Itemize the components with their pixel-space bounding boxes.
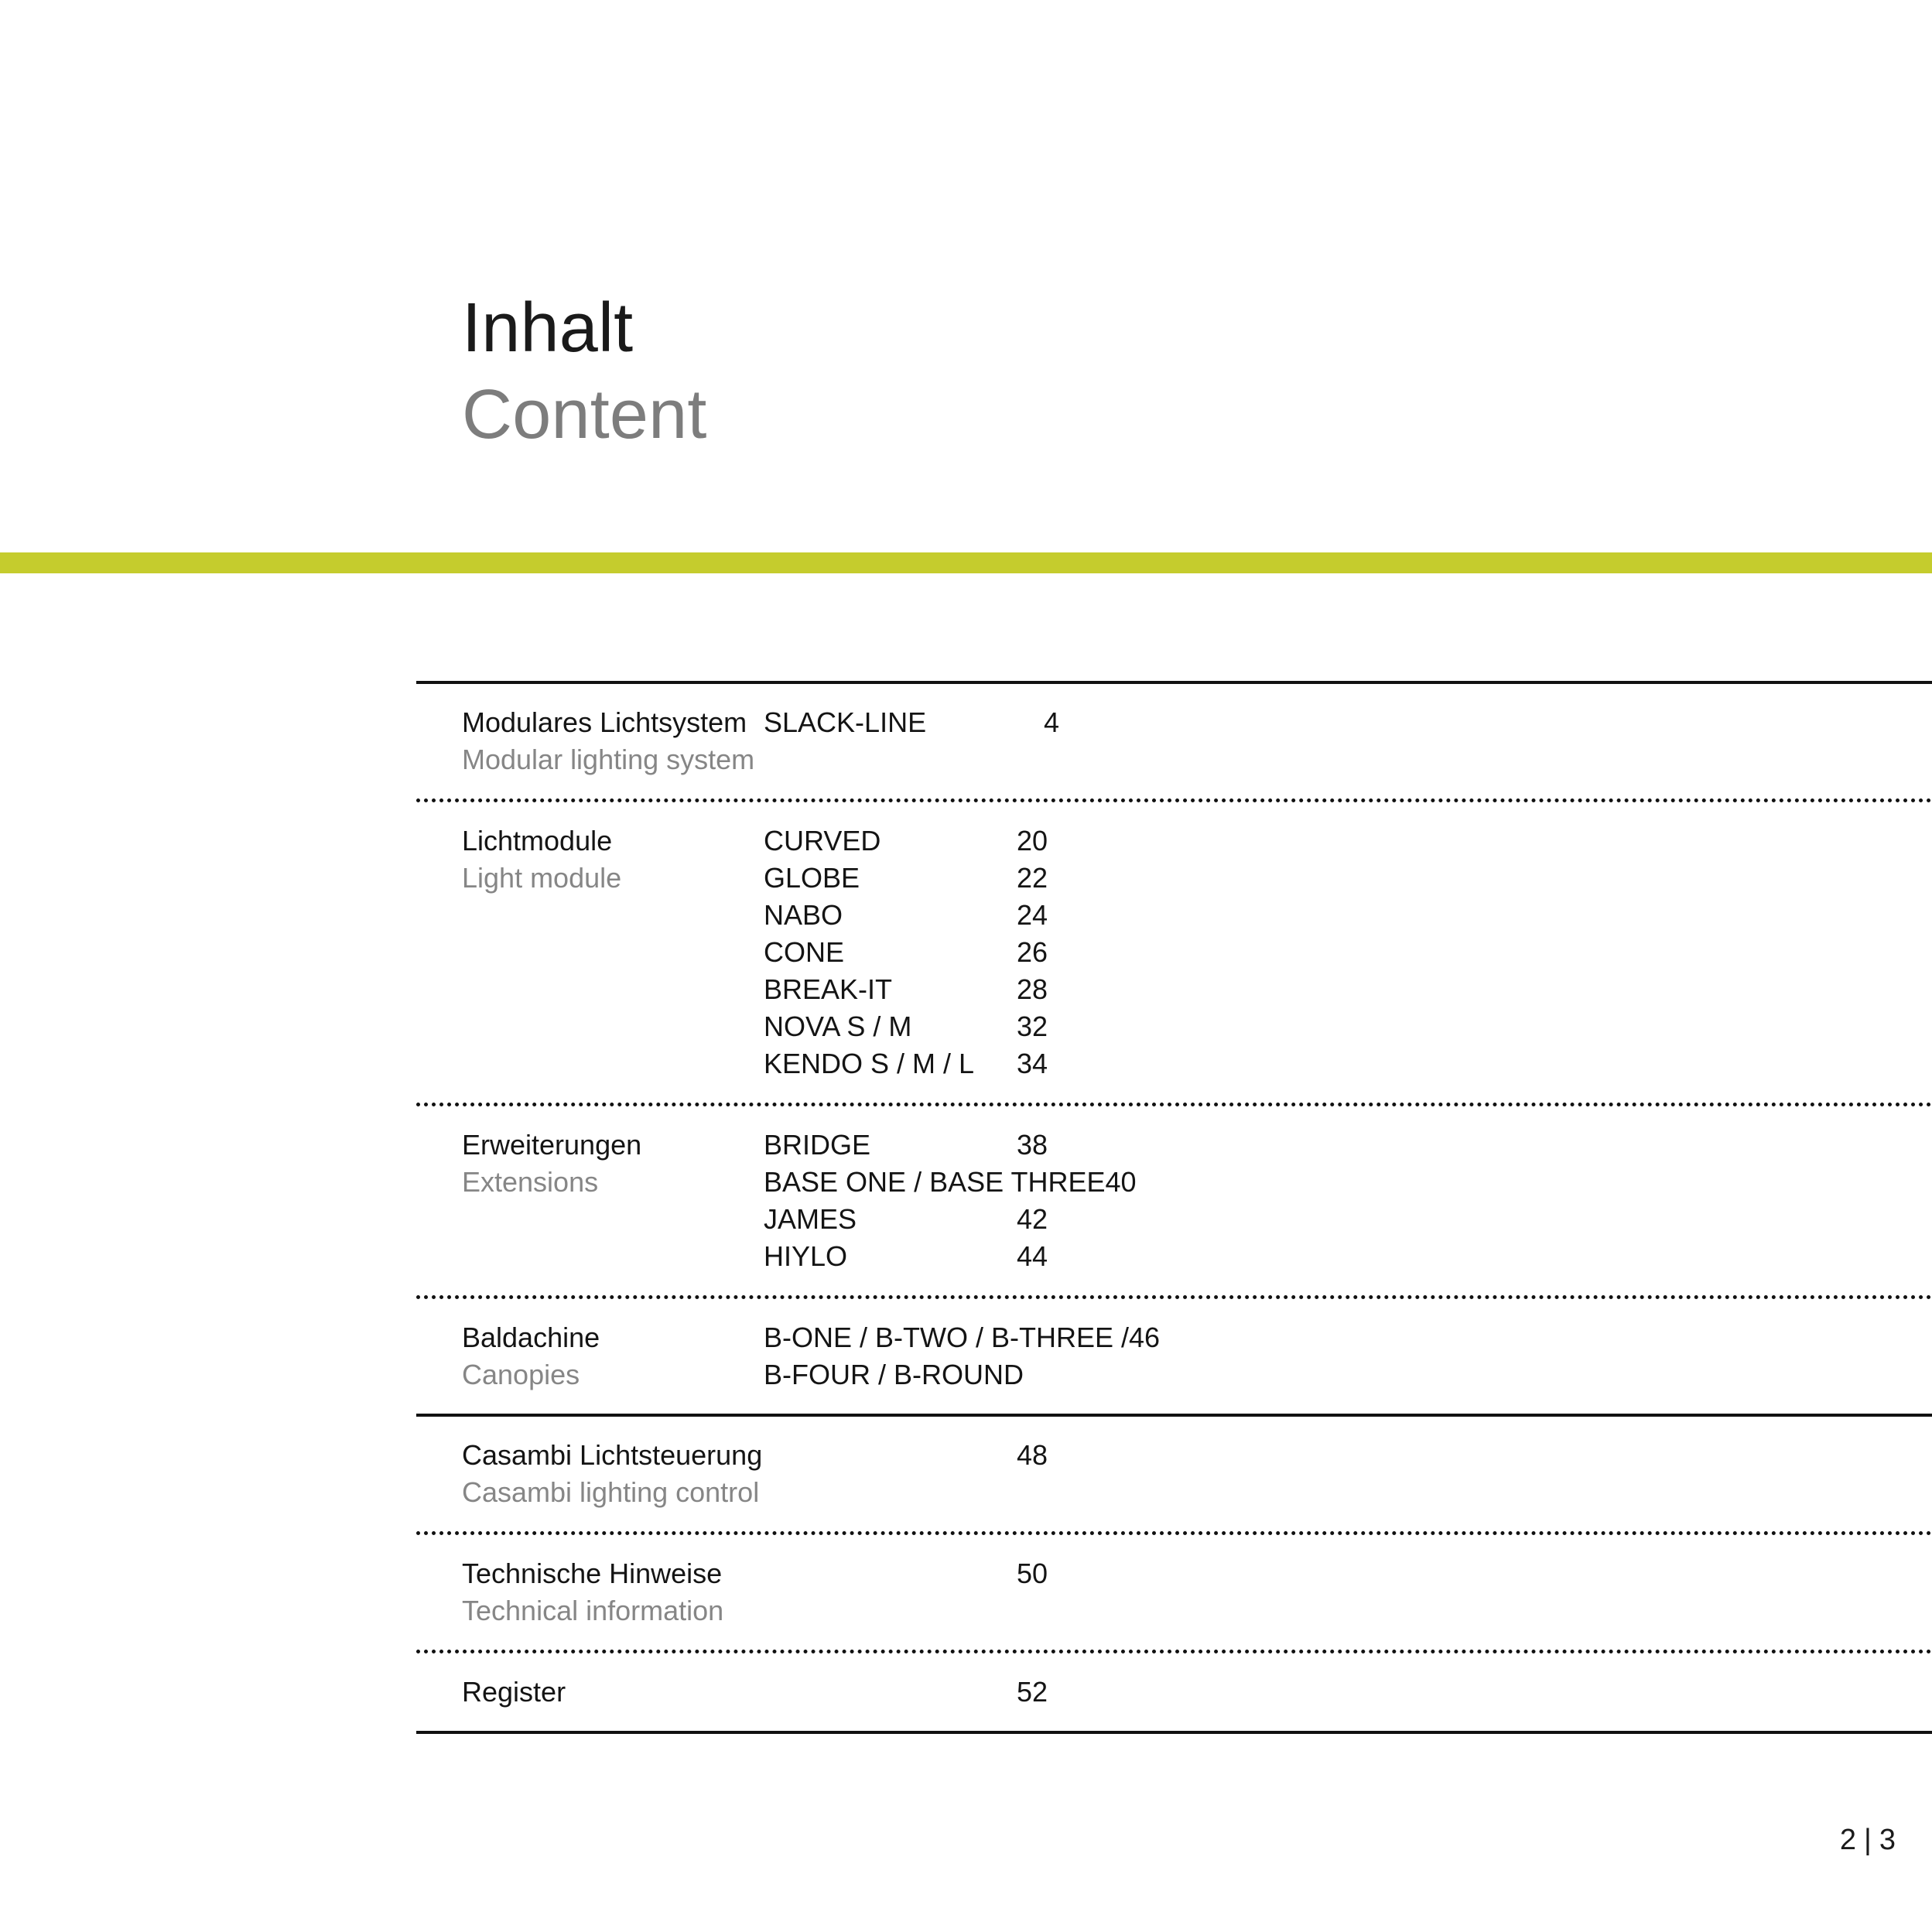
toc-entry[interactable]: 48 — [764, 1437, 1932, 1474]
toc-entry[interactable]: HIYLO 44 — [764, 1238, 1932, 1275]
toc-entry-name: SLACK-LINE — [764, 704, 1017, 741]
toc-label-english: Modular lighting system — [462, 741, 764, 778]
folio-left-page: 2 — [1840, 1824, 1856, 1856]
toc-label-english: Light module — [462, 860, 764, 897]
toc-entry-page: 46 — [1129, 1319, 1160, 1356]
toc-entries: BRIDGE 38 BASE ONE / BASE THREE 40 JAMES… — [764, 1127, 1932, 1275]
toc-section-labels: Modulares Lichtsystem Modular lighting s… — [462, 704, 764, 778]
toc-entry-page: 22 — [1017, 860, 1048, 897]
toc-entry-name — [764, 1674, 1017, 1711]
toc-entry[interactable]: NABO 24 — [764, 897, 1932, 934]
folio-right-page: 3 — [1879, 1824, 1896, 1856]
toc-label-english: Canopies — [462, 1356, 764, 1393]
page-title-english: Content — [462, 371, 707, 458]
toc-entry[interactable]: KENDO S / M / L 34 — [764, 1045, 1932, 1082]
toc-entry-page: 28 — [1017, 971, 1048, 1008]
toc-entry[interactable]: BRIDGE 38 — [764, 1127, 1932, 1164]
toc-entry-page: 42 — [1017, 1201, 1048, 1238]
toc-row[interactable]: Register 52 — [416, 1653, 1932, 1731]
toc-entries: 48 — [764, 1437, 1932, 1474]
toc-section-labels: Baldachine Canopies — [462, 1319, 764, 1393]
toc-entry-name: BREAK-IT — [764, 971, 1017, 1008]
folio-separator: | — [1864, 1822, 1872, 1858]
toc-row[interactable]: Lichtmodule Light module CURVED 20 GLOBE… — [416, 802, 1932, 1103]
page-title-block: Inhalt Content — [462, 285, 707, 458]
toc-entries: SLACK-LINE 4 — [764, 704, 1932, 741]
table-of-contents: Modulares Lichtsystem Modular lighting s… — [416, 681, 1932, 1734]
toc-entry[interactable]: B-FOUR / B-ROUND — [764, 1356, 1932, 1393]
toc-label-english: Technical information — [462, 1592, 764, 1629]
toc-entry[interactable]: CURVED 20 — [764, 822, 1932, 860]
toc-entry-name — [764, 1437, 1017, 1474]
toc-section-labels: Technische Hinweise Technical informatio… — [462, 1555, 764, 1629]
toc-entries: CURVED 20 GLOBE 22 NABO 24 CONE 26 BREAK… — [764, 822, 1932, 1082]
toc-entry-page: 50 — [1017, 1555, 1048, 1592]
toc-label-german: Register — [462, 1674, 764, 1711]
toc-entries: B-ONE / B-TWO / B-THREE / 46 B-FOUR / B-… — [764, 1319, 1932, 1393]
toc-entry-page: 20 — [1017, 822, 1048, 860]
toc-label-german: Casambi Lichtsteuerung — [462, 1437, 764, 1474]
toc-entry-page: 34 — [1017, 1045, 1048, 1082]
toc-entry[interactable]: BASE ONE / BASE THREE 40 — [764, 1164, 1932, 1201]
toc-entry-page: 24 — [1017, 897, 1048, 934]
toc-entry[interactable]: B-ONE / B-TWO / B-THREE / 46 — [764, 1319, 1932, 1356]
toc-row[interactable]: Modulares Lichtsystem Modular lighting s… — [416, 684, 1932, 798]
toc-entry-name: B-ONE / B-TWO / B-THREE / — [764, 1319, 1129, 1356]
toc-entry-page: 4 — [1017, 704, 1086, 741]
toc-entries: 52 — [764, 1674, 1932, 1711]
toc-row[interactable]: Technische Hinweise Technical informatio… — [416, 1535, 1932, 1650]
toc-entry[interactable]: GLOBE 22 — [764, 860, 1932, 897]
toc-entry-name: KENDO S / M / L — [764, 1045, 1017, 1082]
toc-entry[interactable]: JAMES 42 — [764, 1201, 1932, 1238]
toc-entries: 50 — [764, 1555, 1932, 1592]
page-folio: 2|3 — [1840, 1822, 1896, 1858]
toc-entry-name: BRIDGE — [764, 1127, 1017, 1164]
toc-section-labels: Lichtmodule Light module — [462, 822, 764, 897]
toc-label-german: Lichtmodule — [462, 822, 764, 860]
toc-entry-page: 32 — [1017, 1008, 1048, 1045]
page-title-german: Inhalt — [462, 285, 707, 371]
toc-label-english: Casambi lighting control — [462, 1474, 764, 1511]
toc-label-german: Baldachine — [462, 1319, 764, 1356]
toc-entry-page: 38 — [1017, 1127, 1048, 1164]
toc-entry[interactable]: 52 — [764, 1674, 1932, 1711]
accent-bar — [0, 552, 1932, 573]
toc-entry-page: 52 — [1017, 1674, 1048, 1711]
toc-entry-page: 26 — [1017, 934, 1048, 971]
toc-entry[interactable]: CONE 26 — [764, 934, 1932, 971]
toc-entry[interactable]: SLACK-LINE 4 — [764, 704, 1932, 741]
toc-entry-name: NABO — [764, 897, 1017, 934]
toc-entry-page: 40 — [1105, 1164, 1136, 1201]
toc-entry-name: GLOBE — [764, 860, 1017, 897]
toc-label-german: Erweiterungen — [462, 1127, 764, 1164]
toc-entry-page: 48 — [1017, 1437, 1048, 1474]
toc-row[interactable]: Erweiterungen Extensions BRIDGE 38 BASE … — [416, 1106, 1932, 1295]
toc-entry-name: NOVA S / M — [764, 1008, 1017, 1045]
toc-entry-name: CONE — [764, 934, 1017, 971]
toc-row[interactable]: Casambi Lichtsteuerung Casambi lighting … — [416, 1417, 1932, 1531]
toc-entry-name: B-FOUR / B-ROUND — [764, 1356, 1024, 1393]
toc-entry-name: JAMES — [764, 1201, 1017, 1238]
toc-entry-name — [764, 1555, 1017, 1592]
toc-entry-page: 44 — [1017, 1238, 1048, 1275]
toc-section-labels: Register — [462, 1674, 764, 1711]
toc-label-german: Modulares Lichtsystem — [462, 704, 764, 741]
toc-label-english: Extensions — [462, 1164, 764, 1201]
page-canvas: Inhalt Content Modulares Lichtsystem Mod… — [0, 0, 1932, 1932]
toc-entry[interactable]: NOVA S / M 32 — [764, 1008, 1932, 1045]
toc-entry-name: HIYLO — [764, 1238, 1017, 1275]
toc-section-labels: Erweiterungen Extensions — [462, 1127, 764, 1201]
toc-entry[interactable]: BREAK-IT 28 — [764, 971, 1932, 1008]
toc-entry[interactable]: 50 — [764, 1555, 1932, 1592]
toc-rule-bottom — [416, 1731, 1932, 1734]
toc-entry-name: BASE ONE / BASE THREE — [764, 1164, 1105, 1201]
toc-entry-name: CURVED — [764, 822, 1017, 860]
toc-label-german: Technische Hinweise — [462, 1555, 764, 1592]
toc-row[interactable]: Baldachine Canopies B-ONE / B-TWO / B-TH… — [416, 1299, 1932, 1414]
toc-section-labels: Casambi Lichtsteuerung Casambi lighting … — [462, 1437, 764, 1511]
